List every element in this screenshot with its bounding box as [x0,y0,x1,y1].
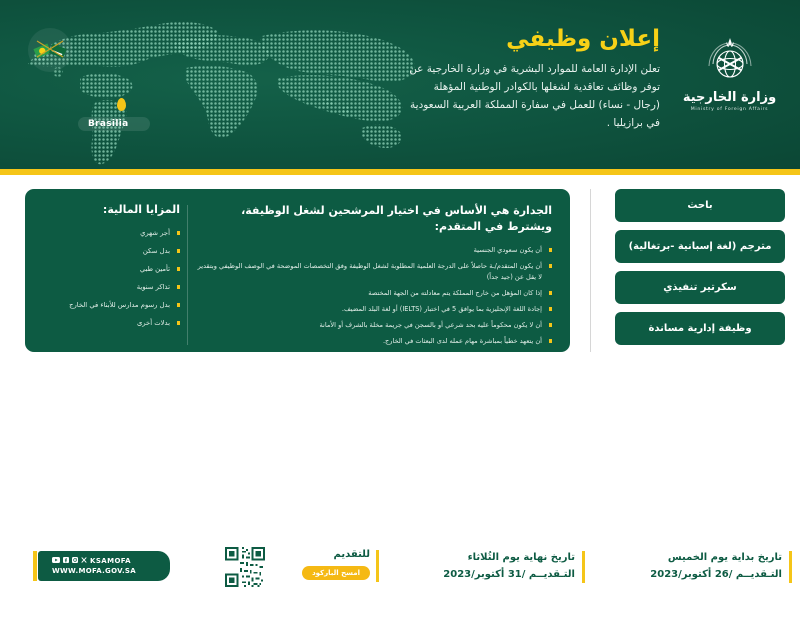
job-announcement-poster: Brasilia إعلان وظيفي تعلن الإدارة العامة… [0,0,800,450]
start-date-line1: تاريخ بداية يوم الخميس [650,549,782,566]
crossed-flags-icon [28,28,72,72]
social-handle-row: KSAMOFA [52,557,170,565]
city-label: Brasilia [78,117,150,131]
benefits-block: المزايا المالية: أجر شهري بدل سكن تأمين … [40,203,180,336]
social-handle: KSAMOFA [90,557,131,565]
social-strip[interactable]: KSAMOFA WWW.MOFA.GOV.SA [38,551,170,581]
instagram-icon[interactable] [72,557,78,565]
logo-english-text: Ministry of Foreign Affairs [691,107,769,112]
list-item: إجادة اللغة الإنجليزية بما يوافق 5 في اخ… [197,304,552,315]
panel-divider [590,189,591,352]
social-accent [33,551,37,581]
list-item: بدلات أخرى [40,318,180,329]
end-date-accent [582,551,586,583]
benefits-divider [187,205,188,345]
list-item: أجر شهري [40,228,180,239]
list-item: إذا كان المؤهل من خارج المملكة يتم معادل… [197,288,552,299]
end-date-line2: التـقديــم /31 أكتوبر/2023 [443,566,575,583]
scan-barcode-badge[interactable]: امسح الباركود [302,566,370,580]
footer: تاريخ بداية يوم الخميس التـقديــم /26 أك… [0,543,800,625]
job-button-translator[interactable]: مترجم (لغة إسبانية -برتغالية) [615,230,785,263]
page-title: إعلان وظيفي [410,26,660,52]
youtube-icon[interactable] [52,557,60,565]
job-titles-list: باحث مترجم (لغة إسبانية -برتغالية) سكرتي… [615,189,785,353]
list-item: بدل سكن [40,246,180,257]
saudi-emblem-icon [701,34,759,88]
qr-code-icon[interactable] [225,547,265,587]
world-map-dotted [10,6,430,168]
body-area: الجدارة هي الأساس في اختيار المرشحين لشغ… [0,175,800,450]
header-banner: Brasilia إعلان وظيفي تعلن الإدارة العامة… [0,0,800,175]
apply-accent [376,550,380,582]
job-button-admin-support[interactable]: وظيفة إدارية مساندة [615,312,785,345]
list-item: أن يكون المتقدم/ـة حاصلاً على الدرجة الع… [197,261,552,283]
list-item: أن يتعهد خطياً بمباشرة مهام عمله لدى الب… [197,336,552,347]
ministry-logo: وزارة الخارجية Ministry of Foreign Affai… [677,20,782,125]
start-date-line2: التـقديــم /26 أكتوبر/2023 [650,566,782,583]
details-panel: الجدارة هي الأساس في اختيار المرشحين لشغ… [25,189,570,352]
job-button-executive-secretary[interactable]: سكرتير تنفيذي [615,271,785,304]
x-twitter-icon[interactable] [81,557,87,565]
list-item: أن يكون سعودي الجنسية [197,245,552,256]
start-date-accent [789,551,793,583]
list-item: تأمين طبي [40,264,180,275]
requirements-block: الجدارة هي الأساس في اختيار المرشحين لشغ… [197,203,552,352]
benefits-heading: المزايا المالية: [40,203,180,216]
list-item: تذاكر سنوية [40,282,180,293]
job-button-researcher[interactable]: باحث [615,189,785,222]
requirements-list: أن يكون سعودي الجنسية أن يكون المتقدم/ـة… [197,245,552,347]
list-item: أن لا يكون محكوماً عليه بحد شرعي أو بالس… [197,320,552,331]
end-date-line1: تاريخ نهاية يوم الثُلاثاء [443,549,575,566]
start-date-block: تاريخ بداية يوم الخميس التـقديــم /26 أك… [650,549,782,583]
logo-arabic-text: وزارة الخارجية [683,90,776,105]
requirements-heading: الجدارة هي الأساس في اختيار المرشحين لشغ… [197,203,552,235]
social-website: WWW.MOFA.GOV.SA [52,567,170,575]
benefits-list: أجر شهري بدل سكن تأمين طبي تذاكر سنوية ب… [40,228,180,329]
announcement-paragraph: تعلن الإدارة العامة للموارد البشرية في و… [405,60,660,132]
facebook-icon[interactable] [63,557,69,565]
end-date-block: تاريخ نهاية يوم الثُلاثاء التـقديــم /31… [443,549,575,583]
map-pin-icon [117,98,126,111]
apply-block: للتقديم امسح الباركود [302,549,370,580]
list-item: بدل رسوم مدارس للأبناء في الخارج [40,300,180,311]
apply-label: للتقديم [302,549,370,560]
